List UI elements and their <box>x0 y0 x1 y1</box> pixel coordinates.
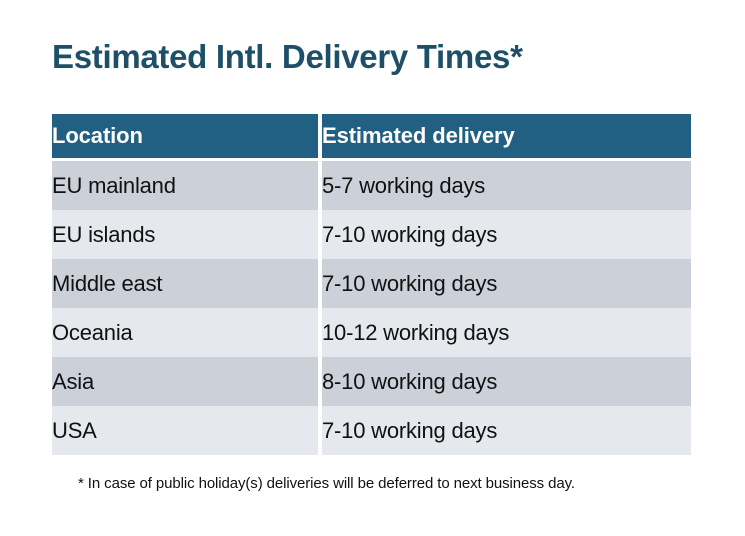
table-row: EU islands 7-10 working days <box>52 210 691 259</box>
footnote-text: * In case of public holiday(s) deliverie… <box>78 474 575 494</box>
table-header: Location Estimated delivery <box>52 114 691 158</box>
table-row: Oceania 10-12 working days <box>52 308 691 357</box>
cell-location: Middle east <box>52 259 318 308</box>
table-row: Middle east 7-10 working days <box>52 259 691 308</box>
cell-location: EU mainland <box>52 161 318 210</box>
delivery-times-page: Estimated Intl. Delivery Times* Location… <box>0 0 745 536</box>
cell-delivery: 8-10 working days <box>322 357 691 406</box>
cell-delivery: 7-10 working days <box>322 210 691 259</box>
table-row: Asia 8-10 working days <box>52 357 691 406</box>
cell-delivery: 5-7 working days <box>322 161 691 210</box>
cell-delivery: 10-12 working days <box>322 308 691 357</box>
cell-delivery: 7-10 working days <box>322 406 691 455</box>
table-row: EU mainland 5-7 working days <box>52 161 691 210</box>
delivery-times-table: Location Estimated delivery EU mainland … <box>52 114 691 455</box>
table-row: USA 7-10 working days <box>52 406 691 455</box>
page-title: Estimated Intl. Delivery Times* <box>52 36 523 78</box>
table-body: EU mainland 5-7 working days EU islands … <box>52 158 691 455</box>
cell-delivery: 7-10 working days <box>322 259 691 308</box>
cell-location: USA <box>52 406 318 455</box>
table-header-row: Location Estimated delivery <box>52 114 691 158</box>
column-header-estimated-delivery: Estimated delivery <box>322 114 691 158</box>
cell-location: Asia <box>52 357 318 406</box>
cell-location: Oceania <box>52 308 318 357</box>
cell-location: EU islands <box>52 210 318 259</box>
column-header-location: Location <box>52 114 318 158</box>
